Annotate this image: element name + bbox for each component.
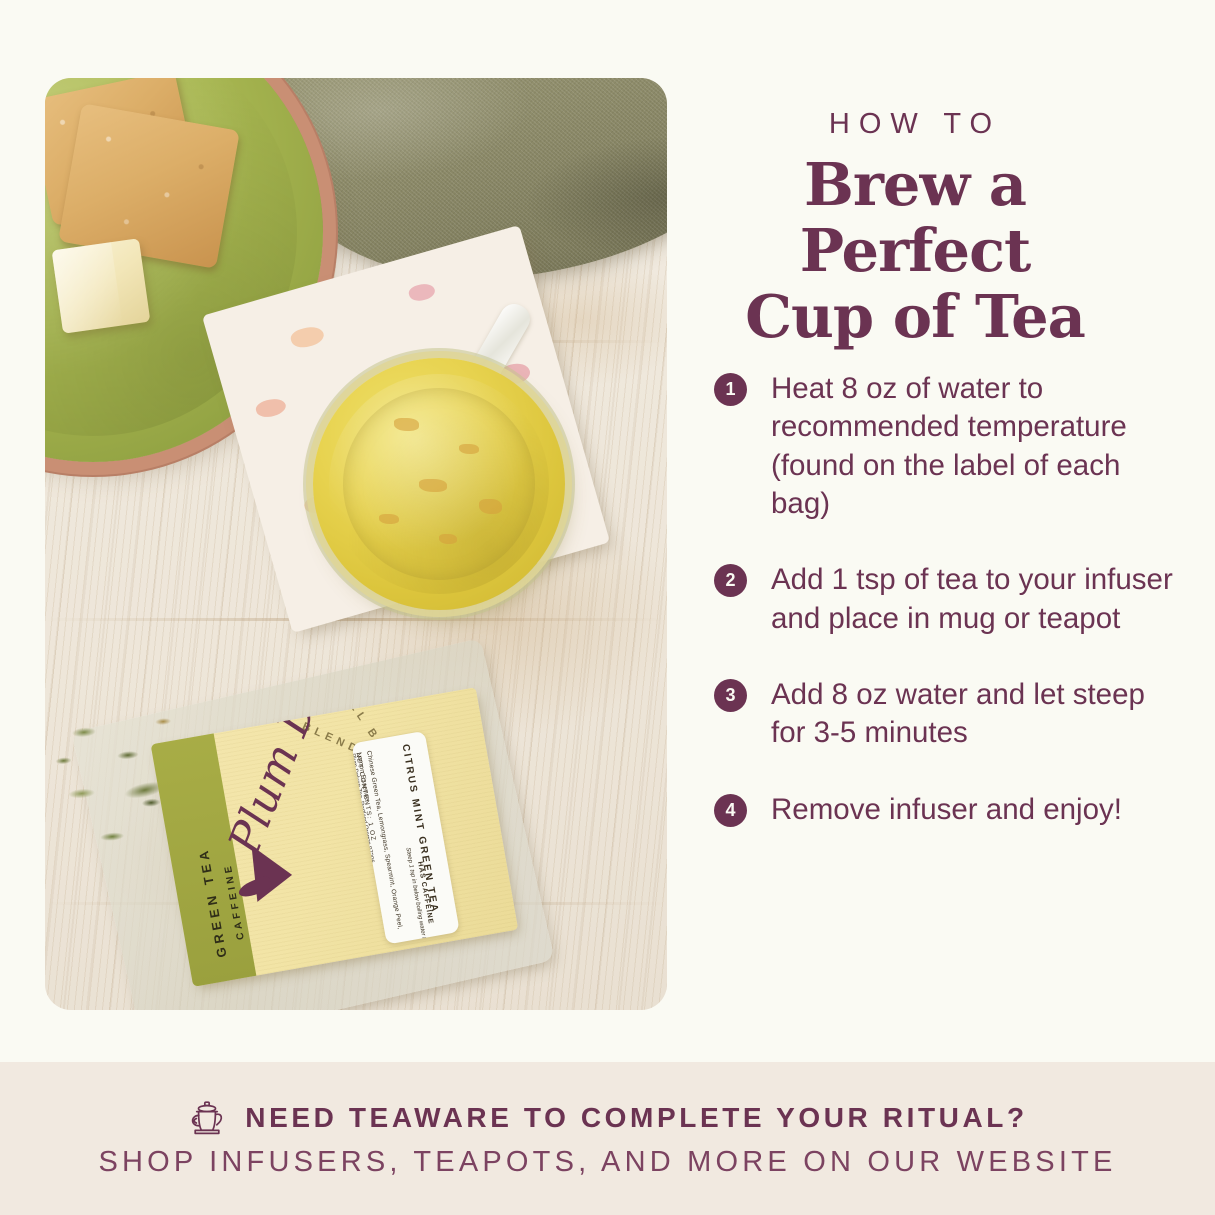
step-number-badge: 2 — [714, 564, 747, 597]
title-line-2: Cup of Tea — [700, 284, 1130, 350]
page-title: Brew a Perfect Cup of Tea — [700, 152, 1130, 350]
tea-leaf-fleck — [459, 444, 479, 454]
step-text: Add 8 oz water and let steep for 3-5 min… — [771, 676, 1184, 753]
step-text: Heat 8 oz of water to recommended temper… — [771, 370, 1184, 523]
step-number-badge: 4 — [714, 794, 747, 827]
tea-leaf-fleck — [379, 514, 399, 524]
cheese-cube — [52, 238, 151, 333]
teapot-icon — [187, 1099, 227, 1137]
cracker — [58, 103, 240, 269]
footer-banner: NEED TEAWARE TO COMPLETE YOUR RITUAL? SH… — [0, 1062, 1215, 1215]
tea-leaf-fleck — [419, 479, 447, 492]
product-info-label: CITRUS MINT GREEN TEA Chinese Green Tea,… — [352, 731, 460, 945]
steps-list: 1 Heat 8 oz of water to recommended temp… — [714, 370, 1184, 829]
tea-leaf-fleck — [439, 534, 457, 544]
step-item: 4 Remove infuser and enjoy! — [714, 791, 1184, 829]
step-item: 3 Add 8 oz water and let steep for 3-5 m… — [714, 676, 1184, 753]
photo-scene: GREEN TEA CAFFEINE HAND BLENDED TEAS SMA… — [45, 78, 667, 1010]
tea-leaf-fleck — [394, 418, 419, 431]
step-number-badge: 3 — [714, 679, 747, 712]
glass-tea-cup — [313, 358, 565, 610]
footer-subline: SHOP INFUSERS, TEAPOTS, AND MORE ON OUR … — [98, 1146, 1116, 1179]
step-text: Add 1 tsp of tea to your infuser and pla… — [771, 561, 1184, 638]
terrazzo-chip — [289, 323, 326, 351]
hero-photo: GREEN TEA CAFFEINE HAND BLENDED TEAS SMA… — [45, 78, 667, 1010]
step-number-badge: 1 — [714, 373, 747, 406]
title-line-1: Brew a Perfect — [700, 152, 1130, 284]
step-item: 2 Add 1 tsp of tea to your infuser and p… — [714, 561, 1184, 638]
tea-leaf-fleck — [479, 499, 502, 514]
content-column: HOW TO Brew a Perfect Cup of Tea 1 Heat … — [700, 0, 1200, 1062]
terrazzo-chip — [255, 396, 288, 420]
kicker-text: HOW TO — [700, 108, 1130, 141]
step-text: Remove infuser and enjoy! — [771, 791, 1122, 829]
step-item: 1 Heat 8 oz of water to recommended temp… — [714, 370, 1184, 523]
terrazzo-chip — [407, 281, 437, 304]
footer-headline: NEED TEAWARE TO COMPLETE YOUR RITUAL? — [245, 1102, 1027, 1134]
footer-primary-row: NEED TEAWARE TO COMPLETE YOUR RITUAL? — [187, 1099, 1027, 1137]
poster: GREEN TEA CAFFEINE HAND BLENDED TEAS SMA… — [0, 0, 1215, 1215]
